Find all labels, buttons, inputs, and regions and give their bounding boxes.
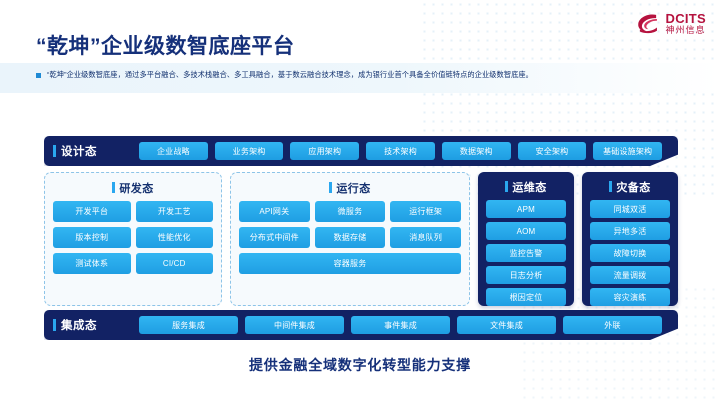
layer-design-title: 设计态 <box>61 143 97 159</box>
cell-item[interactable]: 数据存储 <box>315 227 386 248</box>
layer-integration-tags: 服务集成 中间件集成 事件集成 文件集成 外联 <box>139 316 678 334</box>
accent-tick-icon <box>53 145 56 157</box>
tag-item[interactable]: 技术架构 <box>366 142 435 160</box>
accent-tick-icon <box>112 182 115 193</box>
layer-run-cells: API网关 微服务 运行框架 分布式中间件 数据存储 消息队列 容器服务 <box>239 201 461 274</box>
layer-design-label: 设计态 <box>53 143 139 159</box>
architecture-diagram: 设计态 企业战略 业务架构 应用架构 技术架构 数据架构 安全架构 基础设施架构… <box>44 136 678 340</box>
page-title: “乾坤”企业级数智底座平台 <box>36 30 295 60</box>
layer-integration-title: 集成态 <box>61 317 97 333</box>
subtitle-text: “乾坤”企业级数智底座，通过多平台融合、多技术栈融合、多工具融合，基于数云融合技… <box>47 70 533 80</box>
cell-item[interactable]: 消息队列 <box>390 227 461 248</box>
dcits-swirl-logo-icon <box>635 10 661 36</box>
layer-integration[interactable]: 集成态 服务集成 中间件集成 事件集成 文件集成 外联 <box>44 310 678 340</box>
layer-ops[interactable]: 运维态 APM AOM 监控告警 日志分析 根因定位 <box>478 172 574 306</box>
layer-design-tags: 企业战略 业务架构 应用架构 技术架构 数据架构 安全架构 基础设施架构 <box>139 142 678 160</box>
tag-item[interactable]: 业务架构 <box>215 142 284 160</box>
tag-item[interactable]: 事件集成 <box>351 316 450 334</box>
cell-item[interactable]: 运行框架 <box>390 201 461 222</box>
tag-item[interactable]: 基础设施架构 <box>593 142 662 160</box>
slide-canvas: DCITS 神州信息 “乾坤”企业级数智底座平台 “乾坤”企业级数智底座，通过多… <box>0 0 720 405</box>
cell-item-container-service[interactable]: 容器服务 <box>239 253 461 274</box>
cell-item[interactable]: 开发平台 <box>53 201 131 222</box>
subtitle-row: “乾坤”企业级数智底座，通过多平台融合、多技术栈融合、多工具融合，基于数云融合技… <box>36 70 696 80</box>
layer-run-label: 运行态 <box>239 180 461 195</box>
cell-item[interactable]: 微服务 <box>315 201 386 222</box>
accent-tick-icon <box>609 181 612 192</box>
tag-item[interactable]: 文件集成 <box>457 316 556 334</box>
logo-text-en: DCITS <box>666 12 707 25</box>
layer-dev-title: 研发态 <box>119 180 153 196</box>
layer-design[interactable]: 设计态 企业战略 业务架构 应用架构 技术架构 数据架构 安全架构 基础设施架构 <box>44 136 678 166</box>
accent-tick-icon <box>53 319 56 331</box>
cell-item[interactable]: 故障切换 <box>590 244 670 262</box>
cell-item[interactable]: 分布式中间件 <box>239 227 310 248</box>
layer-disaster-recovery-label: 灾备态 <box>590 179 670 194</box>
layer-integration-label: 集成态 <box>53 317 139 333</box>
tag-item[interactable]: 外联 <box>563 316 662 334</box>
cell-item[interactable]: AOM <box>486 222 566 240</box>
cell-item[interactable]: 根因定位 <box>486 288 566 306</box>
cell-item[interactable]: 开发工艺 <box>136 201 214 222</box>
cell-item[interactable]: 日志分析 <box>486 266 566 284</box>
cell-item[interactable]: API网关 <box>239 201 310 222</box>
cell-item[interactable]: 版本控制 <box>53 227 131 248</box>
tag-item[interactable]: 服务集成 <box>139 316 238 334</box>
layer-run-title: 运行态 <box>336 180 370 196</box>
layer-dev-cells: 开发平台 开发工艺 版本控制 性能优化 测试体系 CI/CD <box>53 201 213 274</box>
tag-item[interactable]: 数据架构 <box>442 142 511 160</box>
cell-item[interactable]: 流量调拨 <box>590 266 670 284</box>
cell-item[interactable]: APM <box>486 200 566 218</box>
cell-item[interactable]: 性能优化 <box>136 227 214 248</box>
accent-tick-icon <box>329 182 332 193</box>
cell-item[interactable]: 异地多活 <box>590 222 670 240</box>
layer-dev[interactable]: 研发态 开发平台 开发工艺 版本控制 性能优化 测试体系 CI/CD <box>44 172 222 306</box>
layer-ops-label: 运维态 <box>486 179 566 194</box>
layer-ops-cells: APM AOM 监控告警 日志分析 根因定位 <box>486 200 566 306</box>
layer-dev-label: 研发态 <box>53 180 213 195</box>
tag-item[interactable]: 应用架构 <box>290 142 359 160</box>
layer-disaster-recovery[interactable]: 灾备态 同城双活 异地多活 故障切换 流量调拨 容灾演练 <box>582 172 678 306</box>
tag-item[interactable]: 安全架构 <box>518 142 587 160</box>
footer-caption: 提供金融全域数字化转型能力支撑 <box>0 355 720 375</box>
layer-run[interactable]: 运行态 API网关 微服务 运行框架 分布式中间件 数据存储 消息队列 容器服务 <box>230 172 470 306</box>
brand-logo: DCITS 神州信息 <box>635 10 707 36</box>
cell-item[interactable]: 同城双活 <box>590 200 670 218</box>
tag-item[interactable]: 企业战略 <box>139 142 208 160</box>
tag-item[interactable]: 中间件集成 <box>245 316 344 334</box>
middle-zone: 研发态 开发平台 开发工艺 版本控制 性能优化 测试体系 CI/CD 运行态 <box>44 172 678 306</box>
cell-item[interactable]: 测试体系 <box>53 253 131 274</box>
logo-text-cn: 神州信息 <box>666 26 707 35</box>
layer-disaster-recovery-cells: 同城双活 异地多活 故障切换 流量调拨 容灾演练 <box>590 200 670 306</box>
layer-disaster-recovery-title: 灾备态 <box>616 179 650 195</box>
cell-item[interactable]: CI/CD <box>136 253 214 274</box>
layer-ops-title: 运维态 <box>512 179 546 195</box>
cell-item[interactable]: 容灾演练 <box>590 288 670 306</box>
bullet-square-icon <box>36 73 41 78</box>
cell-item[interactable]: 监控告警 <box>486 244 566 262</box>
accent-tick-icon <box>505 181 508 192</box>
